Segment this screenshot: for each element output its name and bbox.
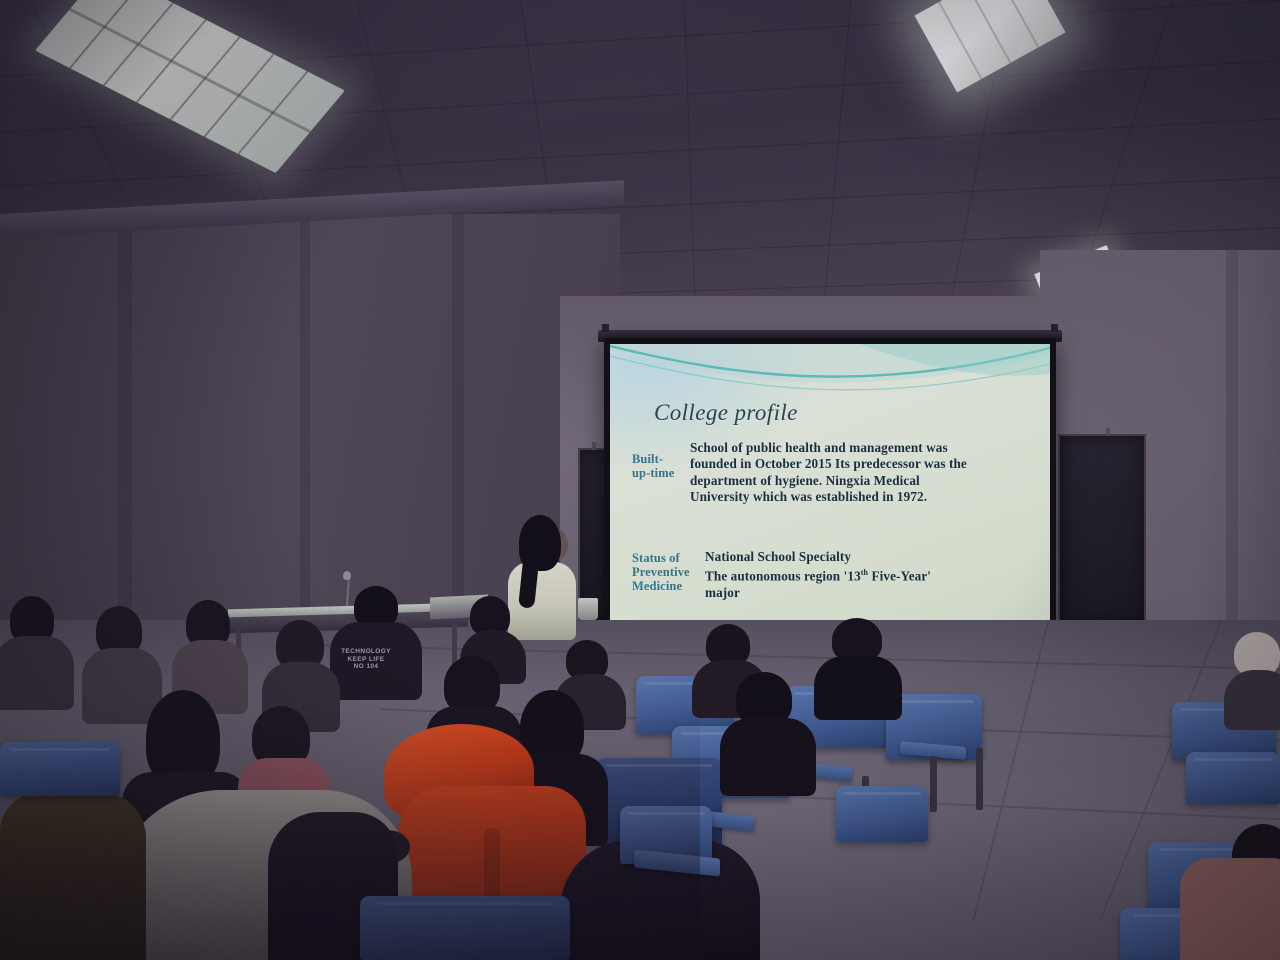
blackboard-clip-right bbox=[1106, 428, 1110, 436]
blackboard-clip-left bbox=[592, 442, 596, 450]
body-line: University which was established in 1972… bbox=[690, 489, 967, 505]
slide-content: College profile Built- up-time School of… bbox=[610, 344, 1050, 656]
seat[interactable] bbox=[1186, 752, 1280, 804]
slide-title: College profile bbox=[654, 400, 798, 426]
body-line: National School Specialty bbox=[705, 549, 931, 565]
label-line: Preventive bbox=[632, 565, 690, 579]
ordinal-suffix: th bbox=[861, 568, 868, 577]
presenter-hair bbox=[519, 515, 561, 571]
cup-on-desk bbox=[578, 598, 598, 620]
slide-label-status-preventive-medicine: Status of Preventive Medicine bbox=[632, 551, 690, 593]
body-line-prefix: The autonomous region '13 bbox=[705, 569, 861, 584]
body-line: School of public health and management w… bbox=[690, 440, 967, 456]
body-line: department of hygiene. Ningxia Medical bbox=[690, 473, 967, 489]
seat-leg bbox=[930, 756, 937, 812]
slide-body-built-up-time: School of public health and management w… bbox=[690, 440, 967, 506]
body-line: major bbox=[705, 585, 931, 601]
seat-leg bbox=[976, 748, 983, 810]
projection-screen: College profile Built- up-time School of… bbox=[604, 338, 1056, 668]
blackboard-panel-right bbox=[1058, 434, 1146, 626]
microphone-icon bbox=[343, 571, 351, 580]
label-line: up-time bbox=[632, 466, 674, 480]
label-line: Status of bbox=[632, 551, 690, 565]
seat[interactable] bbox=[0, 742, 120, 796]
tshirt-line: NO 104 bbox=[334, 663, 398, 671]
tshirt-graphic-text: TECHNOLOGY KEEP LIFE NO 104 bbox=[334, 648, 398, 671]
body-line: founded in October 2015 Its predecessor … bbox=[690, 456, 967, 472]
label-line: Medicine bbox=[632, 579, 690, 593]
slide-label-built-up-time: Built- up-time bbox=[632, 452, 674, 480]
desk-leg bbox=[452, 624, 457, 664]
classroom-scene: College profile Built- up-time School of… bbox=[0, 0, 1280, 960]
tshirt-line: TECHNOLOGY bbox=[334, 648, 398, 656]
label-line: Built- bbox=[632, 452, 674, 466]
seat[interactable] bbox=[360, 896, 570, 960]
body-line-suffix: Five-Year' bbox=[868, 569, 931, 584]
seat[interactable] bbox=[836, 786, 928, 842]
slide-body-status: National School Specialty The autonomous… bbox=[705, 549, 931, 602]
tshirt-line: KEEP LIFE bbox=[334, 656, 398, 664]
body-line-ordinal: The autonomous region '13th Five-Year' bbox=[705, 565, 931, 585]
